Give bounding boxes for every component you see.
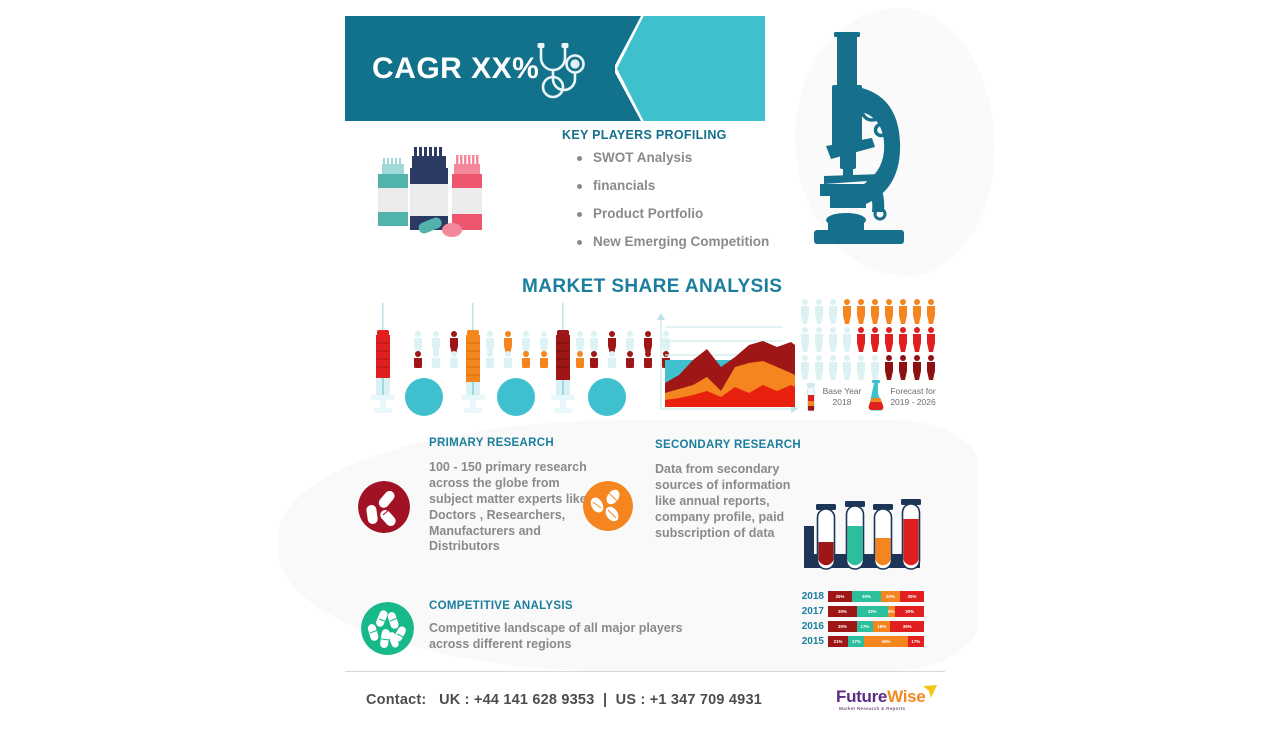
banner-dark-arrow <box>613 16 641 121</box>
stacked-segment: 17% <box>848 636 864 647</box>
stacked-row-2016: 2016 30% 17% 18% 35% <box>800 620 928 632</box>
stacked-year-label: 2017 <box>800 606 828 617</box>
pictogram-row-3 <box>801 355 935 380</box>
stacked-segment: 8% <box>888 606 896 617</box>
stacked-year-label: 2018 <box>800 591 828 602</box>
market-share-area-chart <box>655 305 803 415</box>
stacked-segment: 30% <box>828 606 857 617</box>
competitive-analysis-body: Competitive landscape of all major playe… <box>429 621 719 653</box>
primary-research-body: 100 - 150 primary research across the gl… <box>429 460 589 555</box>
teal-dot-1 <box>405 378 443 416</box>
list-item: SWOT Analysis <box>575 151 805 166</box>
syringe-red <box>365 303 401 415</box>
legend-forecast-line1: Forecast for <box>880 386 946 397</box>
legend-base-year-line1: Base Year <box>812 386 872 397</box>
list-item: Product Portfolio <box>575 207 805 222</box>
logo-tagline: Market Research & Reports <box>839 706 905 711</box>
stacked-row-2018: 2018 25% 30% 20% 25% <box>800 590 928 602</box>
teal-dot-2 <box>497 378 535 416</box>
banner-title: CAGR XX% <box>372 52 539 86</box>
stacked-year-label: 2015 <box>800 636 828 647</box>
legend-base-year: Base Year 2018 <box>812 386 872 407</box>
legend-forecast-line2: 2019 - 2026 <box>880 397 946 408</box>
primary-research-pills-circle-icon <box>358 481 410 533</box>
stacked-segment: 45% <box>864 636 907 647</box>
key-players-list: SWOT Analysis financials Product Portfol… <box>575 151 805 262</box>
stacked-segment: 25% <box>900 591 924 602</box>
footer-divider <box>345 671 945 672</box>
competitive-analysis-heading: COMPETITIVE ANALYSIS <box>429 600 573 612</box>
stacked-segment: 17% <box>908 636 924 647</box>
contact-line: Contact: UK : +44 141 628 9353 | US : +1… <box>366 692 762 708</box>
list-item: financials <box>575 179 805 194</box>
stacked-segment: 21% <box>828 636 848 647</box>
stacked-row-2017: 2017 30% 32% 8% 30% <box>800 605 928 617</box>
cagr-banner: CAGR XX% <box>345 16 765 121</box>
pictogram-row-1 <box>801 299 935 324</box>
futurewise-logo[interactable]: FutureWise Market Research & Reports <box>836 687 936 715</box>
logo-text-future: Future <box>836 687 887 706</box>
secondary-research-heading: SECONDARY RESEARCH <box>655 439 801 451</box>
us-label: US : <box>616 692 646 708</box>
stacked-segment: 30% <box>852 591 881 602</box>
key-players-heading: KEY PLAYERS PROFILING <box>562 128 727 142</box>
stacked-year-label: 2016 <box>800 621 828 632</box>
stacked-segment: 20% <box>881 591 900 602</box>
stacked-segment: 25% <box>828 591 852 602</box>
stacked-segment: 35% <box>890 621 924 632</box>
microscope-icon <box>808 28 928 250</box>
logo-flag-icon <box>922 684 938 700</box>
secondary-research-body: Data from secondary sources of informati… <box>655 462 807 541</box>
us-number[interactable]: +1 347 709 4931 <box>650 692 762 708</box>
legend-base-year-line2: 2018 <box>812 397 872 408</box>
syringe-darkred <box>545 303 581 415</box>
contact-label: Contact: <box>366 692 426 708</box>
yearly-share-stacked-chart: 2018 25% 30% 20% 25% 2017 30% 32% 8% 30%… <box>800 590 928 650</box>
pill-bottles-icon <box>370 140 500 250</box>
teal-dot-3 <box>588 378 626 416</box>
secondary-research-pills-circle-icon <box>583 481 633 531</box>
competitive-analysis-capsules-circle-icon <box>361 602 414 655</box>
pictogram-row-2 <box>801 327 935 352</box>
stethoscope-icon <box>531 42 591 100</box>
infographic-page: CAGR XX% <box>0 0 1280 731</box>
market-share-heading: MARKET SHARE ANALYSIS <box>522 276 782 298</box>
stacked-segment: 32% <box>857 606 888 617</box>
primary-research-heading: PRIMARY RESEARCH <box>429 437 554 449</box>
logo-text-wise: Wise <box>887 687 925 706</box>
syringe-orange <box>455 303 491 415</box>
stacked-segment: 18% <box>873 621 890 632</box>
pictogram-chart <box>800 298 950 380</box>
uk-number[interactable]: +44 141 628 9353 <box>474 692 595 708</box>
list-item: New Emerging Competition <box>575 235 805 250</box>
contact-separator: | <box>603 692 607 708</box>
stacked-row-2015: 2015 21% 17% 45% 17% <box>800 635 928 647</box>
legend-forecast: Forecast for 2019 - 2026 <box>880 386 946 407</box>
stacked-segment: 30% <box>828 621 857 632</box>
uk-label: UK : <box>439 692 470 708</box>
stacked-segment: 30% <box>895 606 924 617</box>
stacked-segment: 17% <box>857 621 873 632</box>
test-tube-rack-icon <box>798 492 926 580</box>
